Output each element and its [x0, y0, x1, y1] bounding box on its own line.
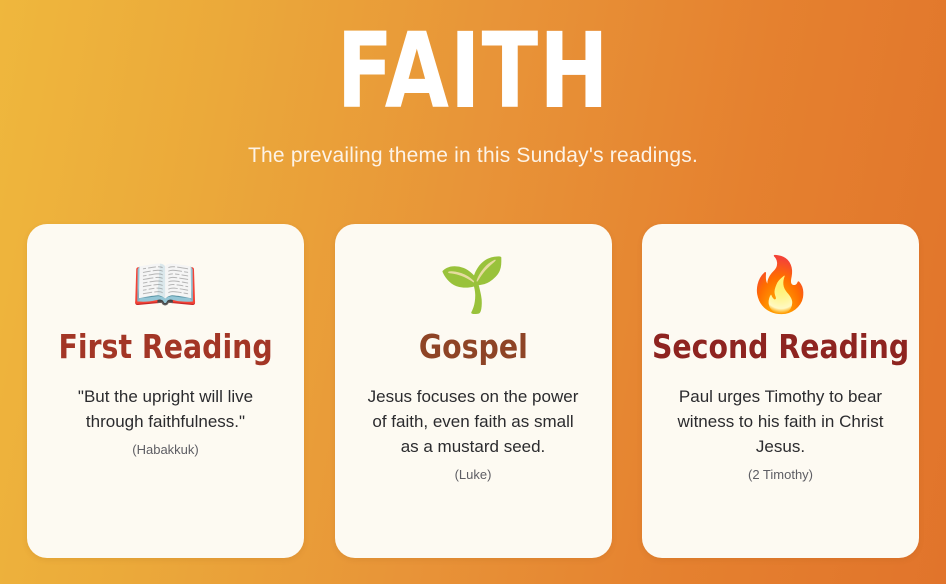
- card-heading: First Reading: [58, 328, 272, 366]
- card-heading: Second Reading: [652, 328, 909, 366]
- card-body-text: Jesus focuses on the power of faith, eve…: [365, 384, 581, 459]
- fire-icon: 🔥: [747, 254, 814, 320]
- card-scripture-reference: (Habakkuk): [132, 441, 198, 459]
- card-scripture-reference: (Luke): [455, 466, 492, 484]
- reading-card-list: 📖 First Reading "But the upright will li…: [27, 224, 919, 558]
- card-scripture-reference: (2 Timothy): [748, 466, 813, 484]
- poster-header: FAITH The prevailing theme in this Sunda…: [0, 0, 946, 170]
- card-body-text: "But the upright will live through faith…: [58, 384, 274, 434]
- reading-card-gospel[interactable]: 🌱 Gospel Jesus focuses on the power of f…: [335, 224, 612, 558]
- seedling-icon: 🌱: [439, 254, 506, 320]
- page-title: FAITH: [95, 0, 852, 130]
- card-body-text: Paul urges Timothy to bear witness to hi…: [673, 384, 889, 459]
- faith-poster: FAITH The prevailing theme in this Sunda…: [0, 0, 946, 584]
- card-heading: Gospel: [419, 328, 528, 366]
- reading-card-first-reading[interactable]: 📖 First Reading "But the upright will li…: [27, 224, 304, 558]
- open-book-icon: 📖: [132, 254, 199, 320]
- reading-card-second-reading[interactable]: 🔥 Second Reading Paul urges Timothy to b…: [642, 224, 919, 558]
- poster-subtitle: The prevailing theme in this Sunday's re…: [0, 130, 946, 170]
